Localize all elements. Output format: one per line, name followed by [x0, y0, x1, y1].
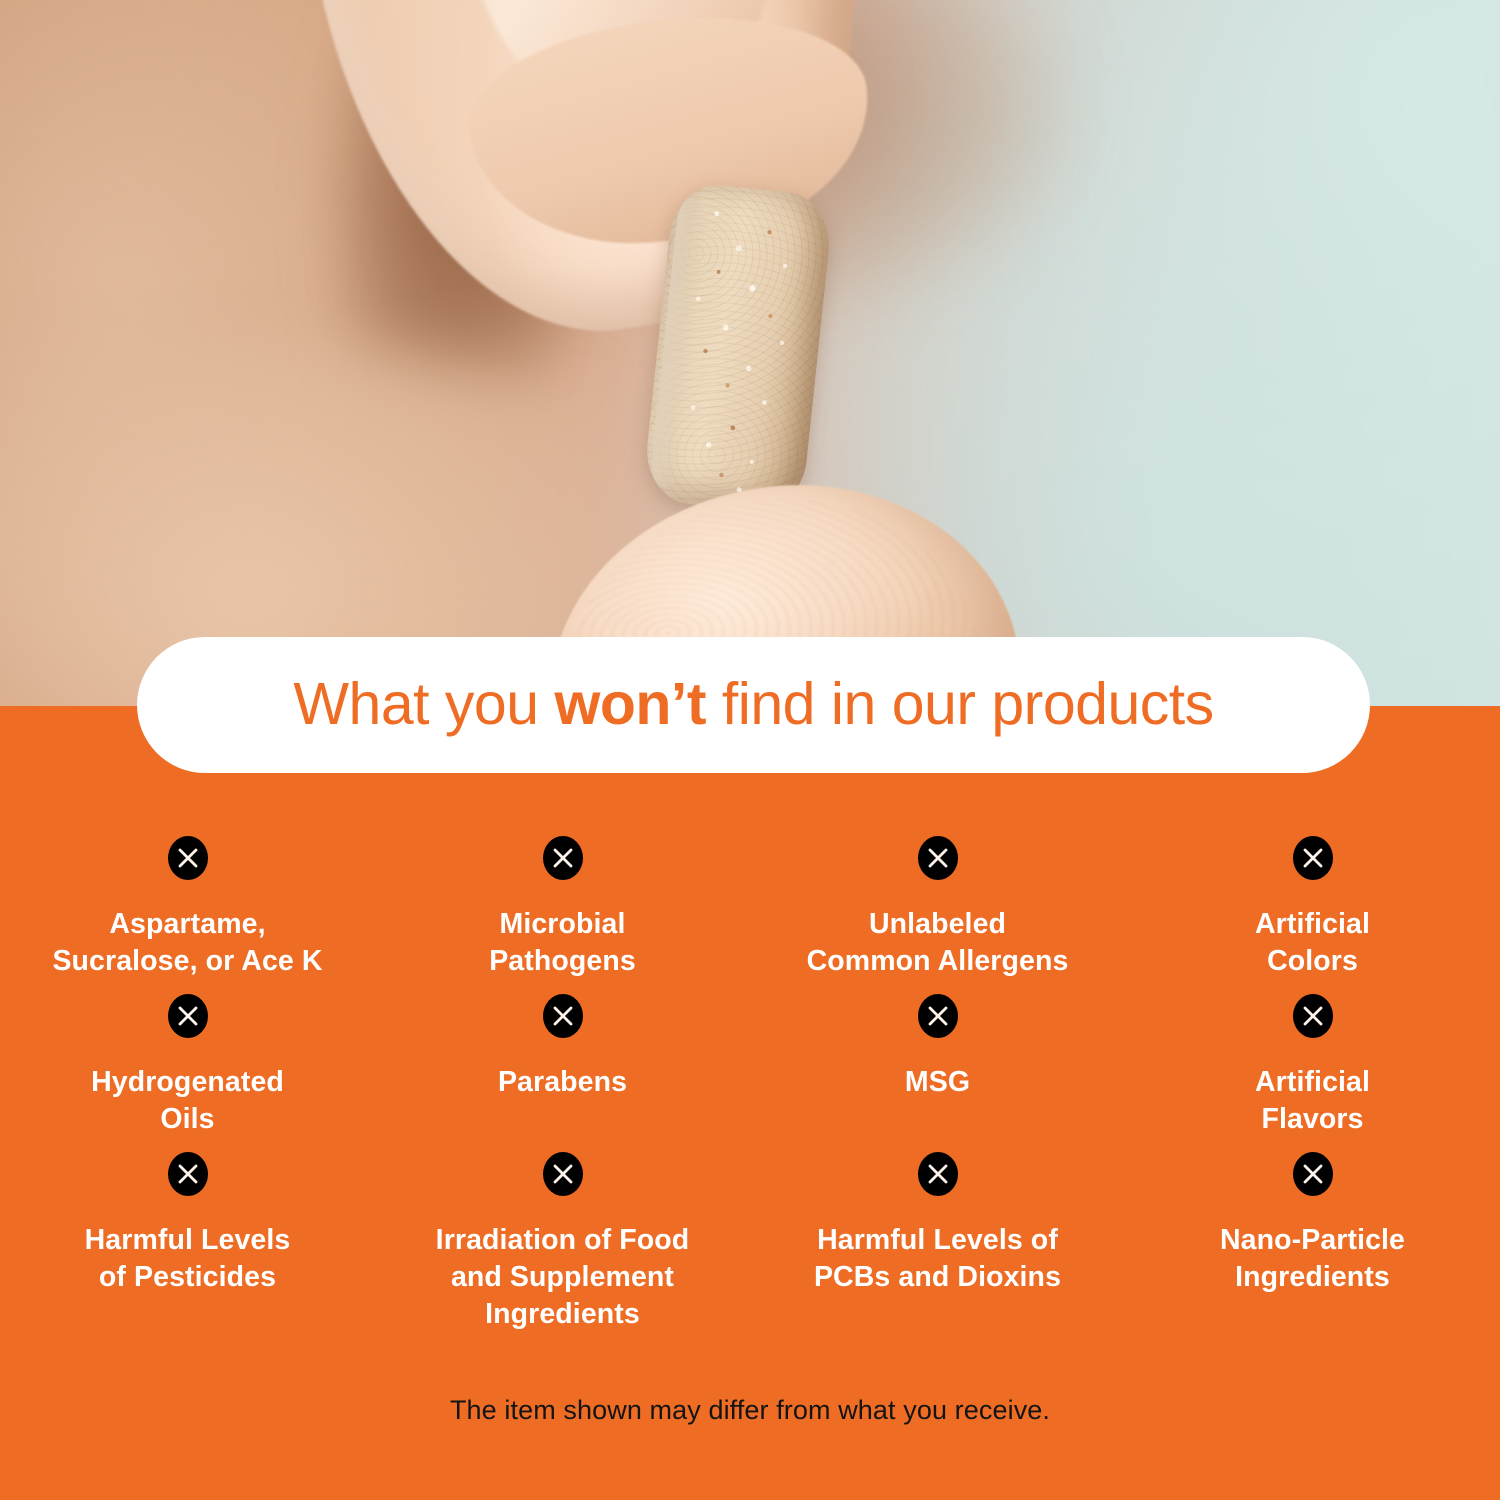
exclusion-item-label: Harmful Levels of PCBs and Dioxins [814, 1222, 1061, 1296]
exclusion-item: Harmful Levels of Pesticides [0, 1138, 375, 1333]
exclusion-item-label: Artificial Flavors [1255, 1064, 1370, 1138]
x-circle-icon [914, 1148, 962, 1200]
exclusion-item-label: MSG [905, 1064, 970, 1101]
exclusion-item: Unlabeled Common Allergens [750, 822, 1125, 980]
exclusion-item: MSG [750, 980, 1125, 1138]
x-circle-icon [914, 832, 962, 884]
disclaimer-text: The item shown may differ from what you … [0, 1395, 1500, 1426]
exclusion-item: Artificial Flavors [1125, 980, 1500, 1138]
x-circle-icon [539, 832, 587, 884]
tablet-body [642, 181, 835, 516]
exclusions-grid: Aspartame, Sucralose, or Ace KMicrobial … [0, 822, 1500, 1333]
exclusion-item: Artificial Colors [1125, 822, 1500, 980]
exclusion-item-label: Irradiation of Food and Supplement Ingre… [436, 1222, 690, 1333]
exclusion-item-label: Parabens [498, 1064, 627, 1101]
page-title: What you won’t find in our products [293, 675, 1213, 734]
tablet-icon [642, 181, 835, 516]
headline-pill: What you won’t find in our products [137, 637, 1370, 773]
exclusion-item: Microbial Pathogens [375, 822, 750, 980]
exclusion-item: Parabens [375, 980, 750, 1138]
exclusion-item-label: Nano-Particle Ingredients [1220, 1222, 1405, 1296]
x-circle-icon [539, 1148, 587, 1200]
x-circle-icon [914, 990, 962, 1042]
x-circle-icon [164, 832, 212, 884]
exclusion-item-label: Hydrogenated Oils [91, 1064, 284, 1138]
x-circle-icon [539, 990, 587, 1042]
exclusion-item-label: Microbial Pathogens [489, 906, 636, 980]
x-circle-icon [164, 990, 212, 1042]
headline-emphasis: won’t [554, 671, 706, 737]
x-circle-icon [164, 1148, 212, 1200]
exclusion-item-label: Aspartame, Sucralose, or Ace K [52, 906, 322, 980]
infographic-page: What you won’t find in our products Aspa… [0, 0, 1500, 1500]
exclusion-item-label: Artificial Colors [1255, 906, 1370, 980]
x-circle-icon [1289, 832, 1337, 884]
exclusion-item: Hydrogenated Oils [0, 980, 375, 1138]
exclusion-item: Irradiation of Food and Supplement Ingre… [375, 1138, 750, 1333]
exclusion-item: Harmful Levels of PCBs and Dioxins [750, 1138, 1125, 1333]
x-circle-icon [1289, 1148, 1337, 1200]
headline-part-before: What you [293, 671, 554, 737]
exclusion-item-label: Unlabeled Common Allergens [807, 906, 1069, 980]
exclusion-item-label: Harmful Levels of Pesticides [85, 1222, 291, 1296]
exclusion-item: Aspartame, Sucralose, or Ace K [0, 822, 375, 980]
product-photo [0, 0, 1500, 706]
exclusion-item: Nano-Particle Ingredients [1125, 1138, 1500, 1333]
x-circle-icon [1289, 990, 1337, 1042]
headline-part-after: find in our products [706, 671, 1214, 737]
